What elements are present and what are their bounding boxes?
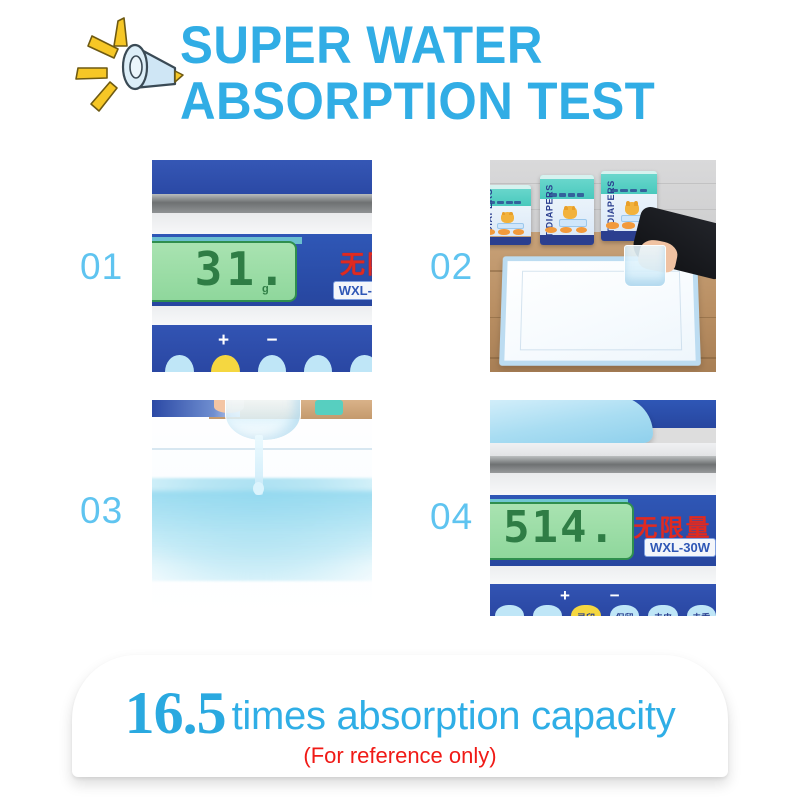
dog-ear [572,206,576,211]
scale-metal-bar [490,456,716,473]
dog-mat [497,223,524,230]
wet-blue-pad [490,400,653,443]
photo-panel-03 [152,400,372,616]
scale-reading-04: 514. [495,502,626,554]
scale-body-gap [490,566,716,583]
scale-white-strip [152,213,372,234]
dog-ear [626,201,630,206]
scale-unit-01: g [262,283,269,295]
scale-platform-top [152,160,372,194]
photo-panel-04: 514. 无限量 WXL-30W + − 录印 保留 去皮 去重 [490,400,716,616]
dog-graphic [559,206,585,227]
absorbed-water-core [152,491,372,564]
scale-plus-label-01: + [218,330,229,352]
dog-mat [559,219,587,226]
absorption-value: 16.5 [125,680,226,746]
banner-main-line: 16.5times absorption capacity [72,679,728,748]
dog-ear [634,201,638,206]
megaphone-icon [72,16,184,126]
panel-number-04: 04 [430,496,473,538]
title-line-2: ABSORPTION TEST [180,74,757,130]
scale-key: 去重 [687,605,716,616]
dog-ear [502,212,505,216]
scale-key: 去皮 [648,605,677,616]
dog-ear [564,206,568,211]
teal-package-edge [315,400,344,415]
panel-number-01: 01 [80,246,123,288]
scale-keypad [490,584,716,616]
panel-number-03: 03 [80,490,123,532]
scale-brand-cn-01: 无限 [340,245,372,281]
package-cn-text [490,201,521,204]
dog-graphic [497,212,522,230]
scale-minus-label-01: − [266,330,277,352]
scale-metal-bar [152,194,372,213]
scale-reading-01: 31. [178,243,306,296]
scale-white-strip [490,443,716,456]
scale-body-gap [152,306,372,325]
package-item: PET DIAPERS [490,185,531,244]
result-banner: 16.5times absorption capacity (For refer… [72,655,728,777]
scale-key [495,605,524,616]
package-dots [545,227,587,233]
infographic-root: SUPER WATER ABSORPTION TEST 01 31. g 无限 … [0,0,800,800]
scale-model-label-01: WXL-3 [333,281,372,300]
scale-model-label-04: WXL-30W [644,538,716,557]
pet-pad [499,257,700,366]
scale-plus-label-04: + [560,586,570,606]
photo-panel-02: PET DIAPERS PET DIAPERS [490,160,716,372]
scale-white-strip-lower [490,473,716,495]
header: SUPER WATER ABSORPTION TEST [0,0,800,145]
package-item: PET DIAPERS [540,175,594,245]
banner-disclaimer: (For reference only) [72,743,728,769]
title-line-1: SUPER WATER [180,18,757,74]
page-title: SUPER WATER ABSORPTION TEST [180,18,800,130]
absorption-label: times absorption capacity [232,694,676,738]
scale-minus-label-04: − [610,586,620,606]
scale-key: 录印 [571,605,600,616]
package-dots [490,229,524,234]
photo-panel-01: 31. g 无限 WXL-3 + − [152,160,372,372]
package-bottom [490,237,531,245]
panel-number-02: 02 [430,246,473,288]
water-glass [624,245,667,287]
dog-ear [509,212,512,216]
